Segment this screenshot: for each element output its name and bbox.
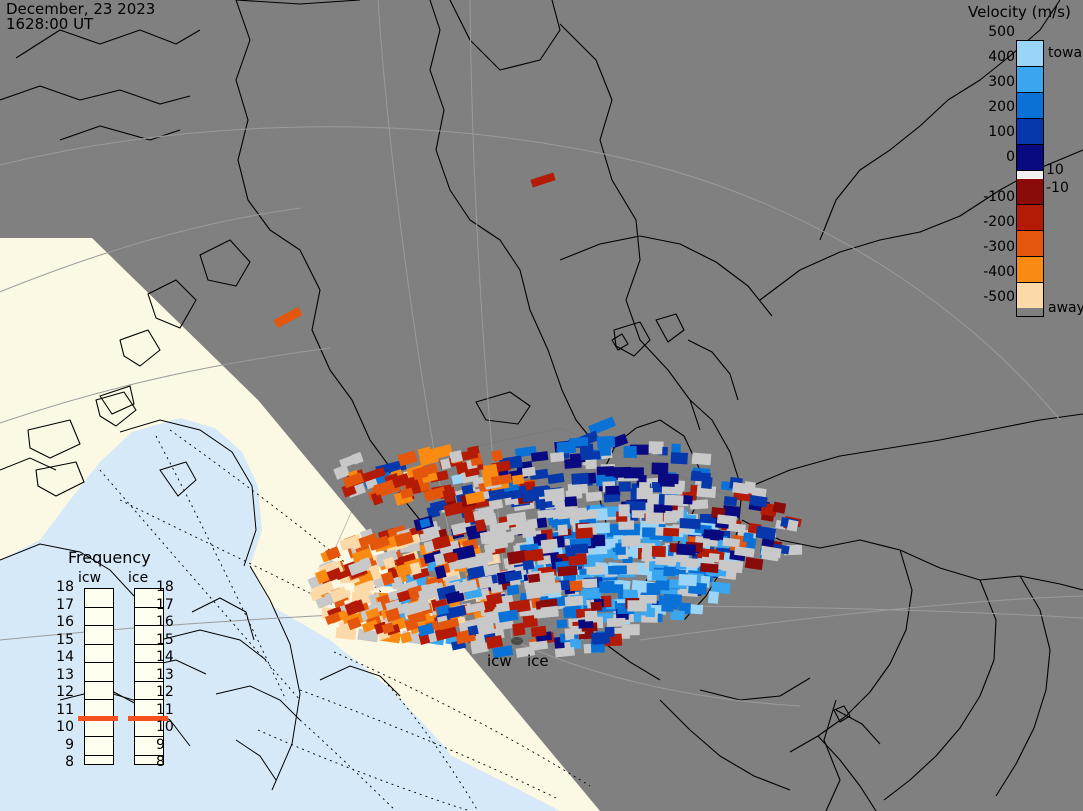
velocity-cell: [564, 458, 582, 469]
frequency-axis-tick: 9: [50, 737, 74, 753]
frequency-axis-tick: 12: [50, 684, 74, 700]
colorbar-segment: [1017, 67, 1043, 93]
velocity-cell: [624, 467, 644, 478]
frequency-axis-tick: 8: [156, 754, 165, 770]
frequency-tick-segment: [85, 737, 113, 756]
velocity-cell: [627, 600, 646, 611]
frequency-axis-tick: 18: [156, 579, 174, 595]
velocity-cell: [618, 520, 634, 529]
velocity-cell: [710, 529, 721, 541]
frequency-axis-tick: 17: [50, 597, 74, 613]
velocity-cell: [581, 451, 601, 460]
velocity-cell: [512, 623, 525, 637]
velocity-cell: [597, 436, 615, 448]
colorbar-tick: -400: [975, 264, 1015, 280]
velocity-cell: [522, 467, 536, 477]
velocity-cell: [624, 446, 637, 458]
frequency-axis-tick: 18: [50, 579, 74, 595]
velocity-cell: [565, 596, 581, 607]
colorbar-away-label: away: [1048, 300, 1083, 316]
velocity-cell: [692, 453, 712, 466]
velocity-cell: [680, 518, 701, 529]
frequency-axis-tick: 11: [50, 702, 74, 718]
velocity-cell: [557, 619, 568, 628]
colorbar-tick: 0: [975, 149, 1015, 165]
velocity-cell: [665, 599, 679, 609]
frequency-tick-segment: [85, 756, 113, 774]
colorbar-segment: [1017, 145, 1043, 171]
colorbar-toward-label: toward: [1048, 45, 1083, 61]
velocity-cell: [773, 502, 787, 514]
frequency-tick-segment: [85, 608, 113, 627]
velocity-cell: [607, 618, 626, 627]
velocity-cell: [652, 444, 663, 454]
velocity-cell: [555, 647, 575, 657]
velocity-cell: [584, 578, 598, 588]
velocity-cell: [530, 172, 555, 187]
velocity-cell: [787, 519, 799, 531]
velocity-cell: [571, 473, 589, 485]
frequency-bar-label-icw: icw: [78, 570, 101, 586]
frequency-axis-tick: 12: [156, 684, 174, 700]
velocity-cell: [665, 511, 679, 521]
colorbar-tick: 400: [975, 49, 1015, 65]
velocity-cell: [605, 486, 620, 495]
colorbar-segment: [1017, 205, 1043, 231]
velocity-cell: [507, 584, 520, 595]
colorbar-segment: [1017, 93, 1043, 119]
velocity-cell: [564, 496, 577, 507]
velocity-cell: [678, 574, 697, 586]
velocity-cell: [671, 452, 688, 464]
velocity-cell: [557, 524, 568, 535]
velocity-cell: [531, 626, 547, 637]
velocity-cell: [575, 527, 593, 538]
velocity-cell: [664, 495, 683, 506]
velocity-cell: [708, 553, 719, 563]
velocity-cell: [537, 518, 547, 529]
frequency-axis-tick: 13: [156, 667, 174, 683]
velocity-cell: [619, 482, 631, 492]
timestamp: December, 23 20231628:00 UT: [6, 2, 155, 32]
velocity-cell: [522, 560, 534, 570]
colorbar-segment: [1017, 179, 1043, 205]
velocity-cell: [637, 581, 646, 593]
colorbar-tick: -500: [975, 289, 1015, 305]
frequency-bar-icw[interactable]: [84, 588, 114, 765]
velocity-cell: [593, 633, 607, 645]
velocity-cell: [613, 565, 627, 574]
velocity-cell: [524, 549, 544, 563]
frequency-bar-label-ice: ice: [128, 570, 148, 586]
velocity-cell: [339, 454, 359, 468]
velocity-cell: [569, 580, 582, 591]
velocity-cell: [597, 466, 615, 475]
colorbar-tick: -100: [975, 189, 1015, 205]
map-site-label-ice: ice: [527, 652, 549, 670]
colorbar-tick: 300: [975, 74, 1015, 90]
frequency-axis-tick: 9: [156, 737, 165, 753]
velocity-cell: [571, 544, 588, 555]
velocity-cell: [510, 490, 522, 500]
velocity-cell: [550, 452, 564, 462]
frequency-axis-tick: 17: [156, 597, 174, 613]
frequency-axis-tick: 15: [50, 632, 74, 648]
velocity-cell: [691, 470, 701, 481]
velocity-cell: [585, 610, 598, 621]
velocity-cell: [700, 563, 719, 573]
colorbar-tick: 100: [975, 124, 1015, 140]
velocity-cell: [591, 602, 602, 611]
velocity-cell: [701, 476, 713, 489]
velocity-cell: [557, 508, 569, 520]
frequency-axis-tick: 14: [156, 649, 174, 665]
colorbar-gs-lower-label: -10: [1046, 180, 1069, 196]
velocity-cell: [731, 560, 743, 573]
velocity-cell: [512, 474, 525, 485]
velocity-cell: [662, 485, 683, 494]
timestamp-time: 1628:00 UT: [6, 15, 93, 33]
velocity-cell: [468, 625, 479, 636]
velocity-cell: [569, 437, 588, 447]
colorbar-tick: -200: [975, 214, 1015, 230]
frequency-axis-tick: 13: [50, 667, 74, 683]
colorbar-title: Velocity (m/s): [968, 3, 1071, 21]
frequency-tick-segment: [85, 682, 113, 701]
velocity-cell: [623, 590, 638, 599]
frequency-legend-title: Frequency: [68, 548, 151, 567]
velocity-cell: [430, 444, 453, 460]
velocity-cell: [724, 496, 738, 506]
velocity-cell: [547, 473, 564, 484]
velocity-cell: [568, 483, 588, 495]
velocity-cell: [663, 528, 679, 537]
colorbar-segment: [1017, 231, 1043, 257]
frequency-marker-icw: [78, 716, 118, 721]
velocity-cell: [397, 450, 417, 466]
velocity-cell: [557, 565, 577, 576]
frequency-axis-tick: 15: [156, 632, 174, 648]
colorbar-gs-upper-label: 10: [1046, 162, 1064, 178]
velocity-cell: [539, 572, 555, 585]
colorbar-segment: [1017, 119, 1043, 145]
frequency-axis-tick: 8: [50, 754, 74, 770]
velocity-cell: [652, 546, 666, 557]
velocity-cell: [541, 539, 558, 551]
frequency-tick-segment: [85, 645, 113, 664]
velocity-cell: [619, 504, 630, 516]
colorbar-tick: 500: [975, 24, 1015, 40]
colorbar-tick: 200: [975, 99, 1015, 115]
frequency-tick-segment: [85, 663, 113, 682]
colorbar[interactable]: [1016, 40, 1044, 317]
map-site-label-icw: icw: [487, 652, 512, 670]
velocity-cell: [683, 495, 693, 504]
velocity-cell: [544, 488, 565, 502]
frequency-axis-tick: 16: [156, 614, 174, 630]
velocity-cell: [744, 481, 756, 494]
velocity-cell: [651, 462, 668, 474]
colorbar-segment: [1017, 41, 1043, 67]
frequency-axis-tick: 11: [156, 702, 174, 718]
velocity-cell: [676, 544, 696, 556]
frequency-axis-tick: 16: [50, 614, 74, 630]
velocity-cell: [621, 536, 640, 547]
velocity-cell: [274, 307, 303, 328]
velocity-cell: [637, 488, 653, 499]
velocity-cell: [743, 532, 754, 543]
frequency-axis-tick: 10: [156, 719, 174, 735]
velocity-cell: [663, 566, 675, 576]
frequency-axis-tick: 10: [50, 719, 74, 735]
radar-fan-plot: December, 23 20231628:00 UT Velocity (m/…: [0, 0, 1083, 811]
velocity-cell: [641, 552, 652, 561]
velocity-cell: [491, 450, 503, 462]
colorbar-segment: [1017, 171, 1043, 179]
frequency-axis-tick: 14: [50, 649, 74, 665]
colorbar-segment: [1017, 257, 1043, 283]
velocity-cell: [605, 627, 615, 637]
colorbar-tick: -300: [975, 239, 1015, 255]
velocity-cell: [599, 581, 615, 593]
velocity-cell: [745, 557, 764, 570]
frequency-tick-segment: [85, 626, 113, 645]
colorbar-segment: [1017, 283, 1043, 308]
velocity-cell: [521, 526, 536, 538]
velocity-cell: [660, 476, 675, 487]
velocity-cell: [581, 510, 598, 519]
velocity-cell: [708, 591, 719, 604]
frequency-tick-segment: [85, 589, 113, 608]
